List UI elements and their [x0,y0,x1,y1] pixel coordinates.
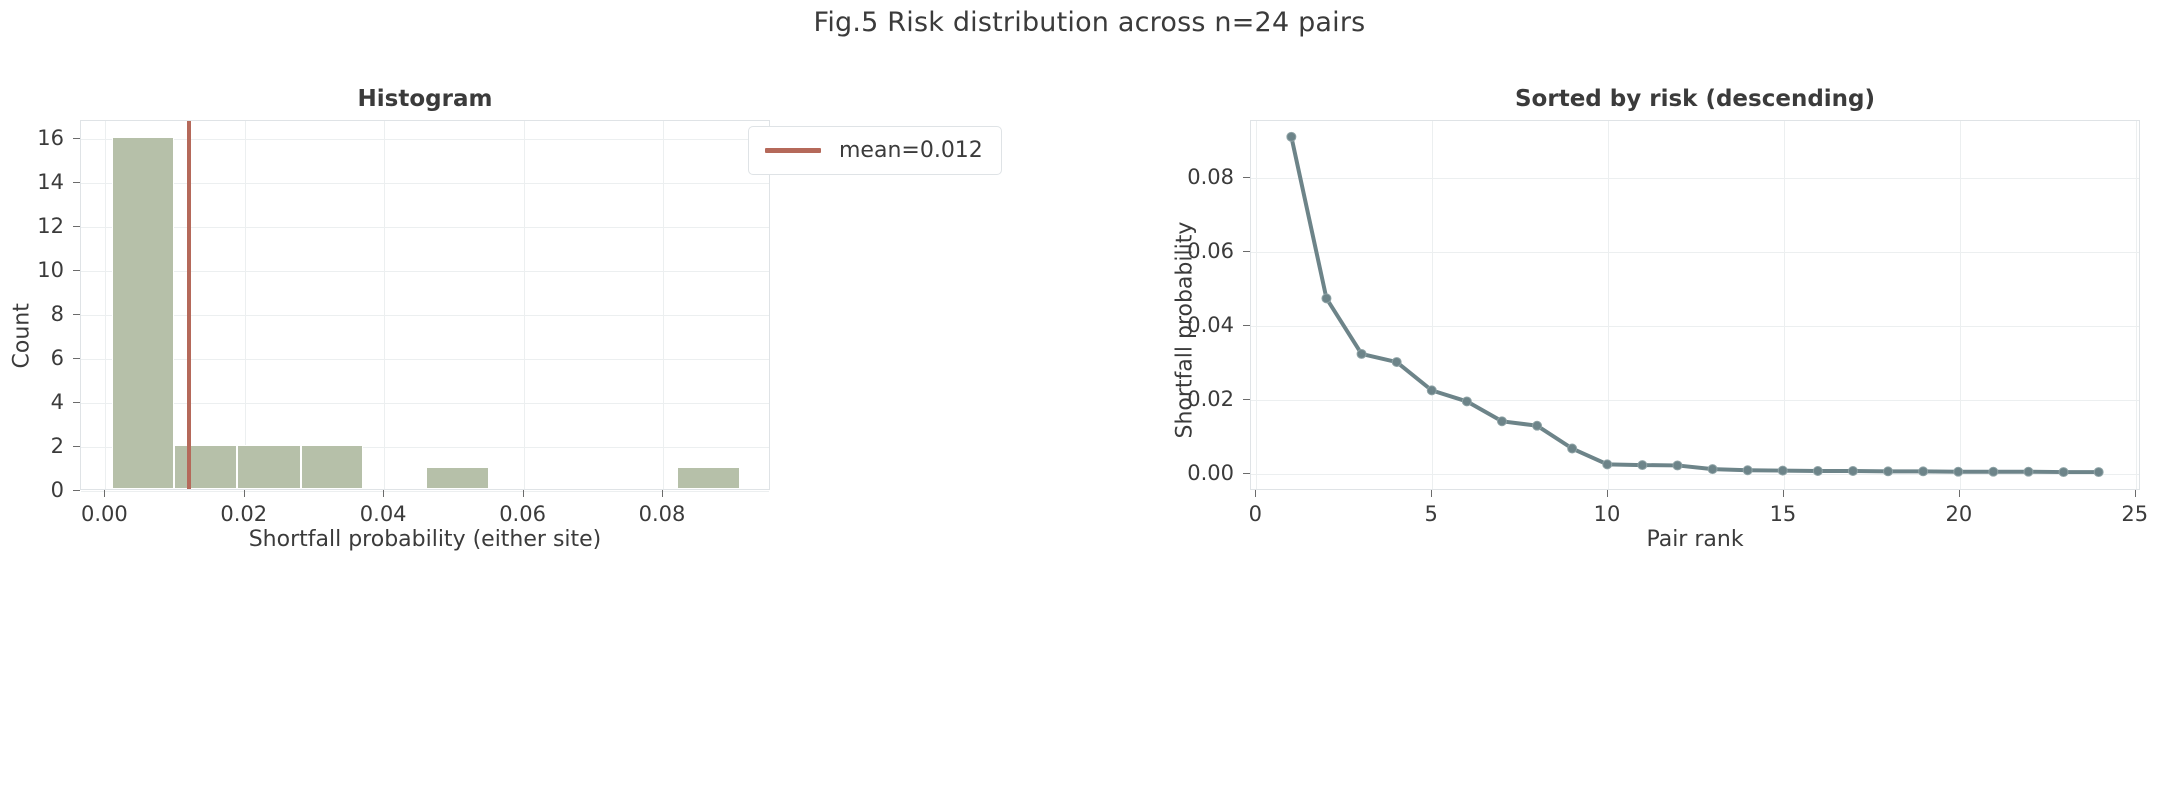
risk-point [1954,467,1963,476]
x-ticklabel: 0.00 [81,502,128,526]
y-tickmark [73,446,80,447]
histogram-x-axis-label: Shortfall probability (either site) [80,527,770,552]
y-ticklabel: 0.00 [1130,461,1234,485]
histogram-bar [301,445,364,489]
gridline-vertical [105,121,106,489]
x-tickmark [104,490,105,497]
x-tickmark [383,490,384,497]
gridline-vertical [524,121,525,489]
y-tickmark [73,138,80,139]
histogram-axes [80,120,770,490]
histogram-panel: Histogram 0.000.020.040.060.08 024681012… [0,0,1060,785]
histogram-bar [112,137,175,489]
risk-point [2024,467,2033,476]
y-tickmark [73,270,80,271]
risk-point [1462,397,1471,406]
y-tickmark [73,490,80,491]
y-tickmark [73,358,80,359]
x-ticklabel: 25 [2121,502,2148,526]
gridline-vertical [245,121,246,489]
y-tickmark [73,402,80,403]
risk-point [1673,461,1682,470]
sorted-risk-axes [1250,120,2140,490]
risk-point [1848,466,1857,475]
x-ticklabel: 20 [1945,502,1972,526]
x-tickmark [662,490,663,497]
x-tickmark [2135,490,2136,497]
risk-point [1708,465,1717,474]
sorted-risk-line-series [1251,121,2139,489]
gridline-vertical [663,121,664,489]
risk-point [1392,358,1401,367]
risk-point [1287,132,1296,141]
legend-entry-label: mean=0.012 [839,138,983,163]
y-ticklabel: 14 [10,170,64,194]
gridline-horizontal [81,271,769,272]
mean-vline [187,121,191,489]
y-ticklabel: 2 [10,434,64,458]
risk-point [1989,467,1998,476]
gridline-horizontal [81,359,769,360]
histogram-bar [174,445,237,489]
x-ticklabel: 0 [1249,502,1262,526]
sorted-risk-title: Sorted by risk (descending) [1250,86,2140,112]
gridline-horizontal [81,315,769,316]
x-tickmark [523,490,524,497]
risk-point [1603,460,1612,469]
y-tickmark [1243,251,1250,252]
risk-point [1497,417,1506,426]
risk-point [1568,444,1577,453]
risk-point [1813,466,1822,475]
y-tickmark [1243,325,1250,326]
histogram-bar [237,445,300,489]
risk-point [1322,294,1331,303]
y-tickmark [73,226,80,227]
y-tickmark [1243,399,1250,400]
histogram-bar [677,467,740,489]
sorted-risk-y-axis-label: Shortfall probability [1173,179,1198,439]
risk-point [2094,468,2103,477]
gridline-horizontal [81,403,769,404]
x-ticklabel: 10 [1594,502,1621,526]
histogram-title: Histogram [80,86,770,112]
x-tickmark [1783,490,1784,497]
risk-point [1638,461,1647,470]
histogram-bar [426,467,489,489]
gridline-horizontal [81,491,769,492]
risk-point [1919,467,1928,476]
figure-canvas: Fig.5 Risk distribution across n=24 pair… [0,0,2179,785]
y-tickmark [73,182,80,183]
x-tickmark [1607,490,1608,497]
gridline-horizontal [81,139,769,140]
y-tickmark [73,314,80,315]
y-ticklabel: 16 [10,126,64,150]
risk-point [1884,467,1893,476]
risk-point [1743,466,1752,475]
risk-point [1778,466,1787,475]
x-ticklabel: 15 [1770,502,1797,526]
x-ticklabel: 0.04 [360,502,407,526]
histogram-legend[interactable]: mean=0.012 [748,126,1002,175]
risk-point [1357,349,1366,358]
risk-point [2059,468,2068,477]
risk-point [1533,421,1542,430]
x-tickmark [1431,490,1432,497]
x-tickmark [244,490,245,497]
risk-point [1427,386,1436,395]
gridline-horizontal [81,227,769,228]
histogram-y-axis-label: Count [10,249,35,369]
x-ticklabel: 0.08 [639,502,686,526]
x-ticklabel: 0.02 [220,502,267,526]
x-ticklabel: 5 [1424,502,1437,526]
y-ticklabel: 4 [10,390,64,414]
y-ticklabel: 12 [10,214,64,238]
y-ticklabel: 0 [10,478,64,502]
sorted-risk-x-axis-label: Pair rank [1250,527,2140,552]
gridline-vertical [384,121,385,489]
y-tickmark [1243,473,1250,474]
x-tickmark [1255,490,1256,497]
y-tickmark [1243,177,1250,178]
x-tickmark [1959,490,1960,497]
x-ticklabel: 0.06 [499,502,546,526]
legend-line-swatch [765,148,821,153]
sorted-risk-panel: Sorted by risk (descending) 0510152025 0… [1060,0,2179,785]
gridline-horizontal [81,183,769,184]
risk-line [1291,137,2098,472]
